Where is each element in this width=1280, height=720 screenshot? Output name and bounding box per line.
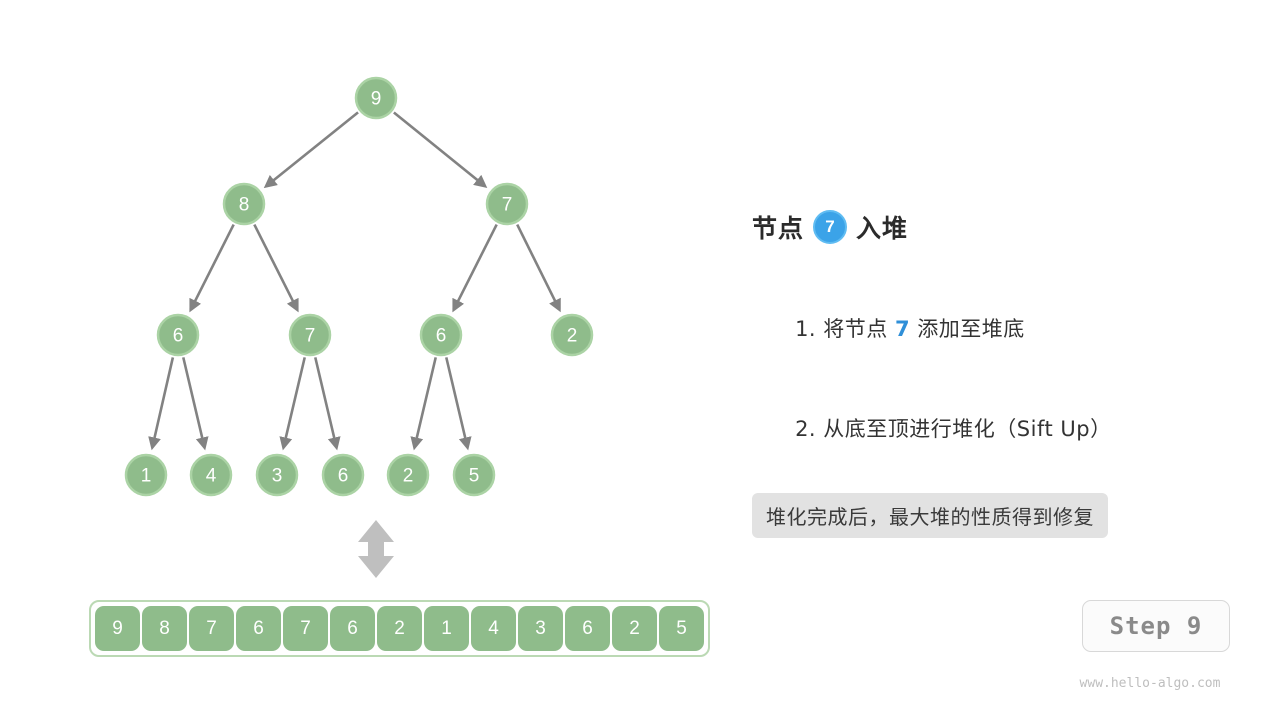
tree-node: 8 <box>224 184 264 224</box>
tree-edge <box>517 225 559 309</box>
tree-node-label: 2 <box>403 466 414 487</box>
tree-edge <box>254 225 297 310</box>
array-cell: 2 <box>377 606 422 651</box>
panel-step-2: 2. 从底至顶进行堆化（Sift Up） <box>752 389 1192 467</box>
array-cell: 5 <box>659 606 704 651</box>
tree-node: 4 <box>191 455 231 495</box>
tree-node-label: 5 <box>469 466 480 487</box>
step-2-index: 2. <box>795 417 816 441</box>
binary-tree-diagram: 9876762143625 <box>0 0 720 600</box>
step-2-text-before: 从底至顶进行堆化（Sift Up） <box>823 417 1111 441</box>
tree-edges <box>152 112 559 446</box>
array-cell: 3 <box>518 606 563 651</box>
tree-nodes: 9876762143625 <box>126 78 592 495</box>
diagram-canvas: 9876762143625 9876762143625 节点 7 入堆 1. 将… <box>0 0 1280 720</box>
tree-node-label: 6 <box>173 326 184 347</box>
vertical-double-arrow-icon <box>352 518 400 580</box>
tree-node-label: 6 <box>338 466 349 487</box>
tree-node: 1 <box>126 455 166 495</box>
array-cell: 7 <box>189 606 234 651</box>
tree-edge <box>446 357 467 446</box>
step-badge: Step 9 <box>1082 600 1230 652</box>
array-representation: 9876762143625 <box>89 600 710 657</box>
tree-node-label: 2 <box>567 326 578 347</box>
tree-edge <box>284 357 305 446</box>
tree-node-label: 4 <box>206 466 217 487</box>
tree-node-label: 8 <box>239 195 250 216</box>
step-1-highlight: 7 <box>895 317 910 341</box>
step-1-text-after: 添加至堆底 <box>917 317 1025 341</box>
tree-node: 2 <box>388 455 428 495</box>
panel-step-1: 1. 将节点 7 添加至堆底 <box>752 289 1192 367</box>
tree-node: 9 <box>356 78 396 118</box>
tree-node: 7 <box>290 315 330 355</box>
tree-edge <box>267 112 358 185</box>
tree-node: 2 <box>552 315 592 355</box>
array-cell: 4 <box>471 606 516 651</box>
tree-node: 6 <box>158 315 198 355</box>
array-cell: 1 <box>424 606 469 651</box>
tree-edge <box>183 357 204 446</box>
array-cell: 2 <box>612 606 657 651</box>
tree-node-label: 6 <box>436 326 447 347</box>
tree-node: 6 <box>421 315 461 355</box>
tree-node-label: 7 <box>305 326 316 347</box>
tree-node: 3 <box>257 455 297 495</box>
step-1-index: 1. <box>795 317 816 341</box>
array-cell: 7 <box>283 606 328 651</box>
tree-node-label: 1 <box>141 466 152 487</box>
array-cell: 6 <box>565 606 610 651</box>
tree-node-label: 9 <box>371 89 382 110</box>
tree-edge <box>394 112 485 185</box>
panel-title-suffix: 入堆 <box>856 209 908 245</box>
array-cell: 8 <box>142 606 187 651</box>
tree-node: 6 <box>323 455 363 495</box>
step-1-text-before: 将节点 <box>823 317 888 341</box>
array-cell: 9 <box>95 606 140 651</box>
node-value-badge: 7 <box>813 210 847 244</box>
footer-url: www.hello-algo.com <box>1070 676 1230 691</box>
explanation-panel: 节点 7 入堆 1. 将节点 7 添加至堆底 2. 从底至顶进行堆化（Sift … <box>752 205 1192 538</box>
tree-edge <box>191 225 234 310</box>
array-cell: 6 <box>330 606 375 651</box>
tree-node-label: 7 <box>502 195 513 216</box>
tree-edge <box>415 357 436 446</box>
panel-title-prefix: 节点 <box>752 209 804 245</box>
panel-title: 节点 7 入堆 <box>752 205 1192 249</box>
panel-note: 堆化完成后，最大堆的性质得到修复 <box>752 493 1108 538</box>
tree-node: 7 <box>487 184 527 224</box>
tree-edge <box>152 357 172 446</box>
tree-edge <box>454 225 497 310</box>
tree-node-label: 3 <box>272 466 283 487</box>
tree-edge <box>315 357 336 446</box>
tree-node: 5 <box>454 455 494 495</box>
array-cell: 6 <box>236 606 281 651</box>
